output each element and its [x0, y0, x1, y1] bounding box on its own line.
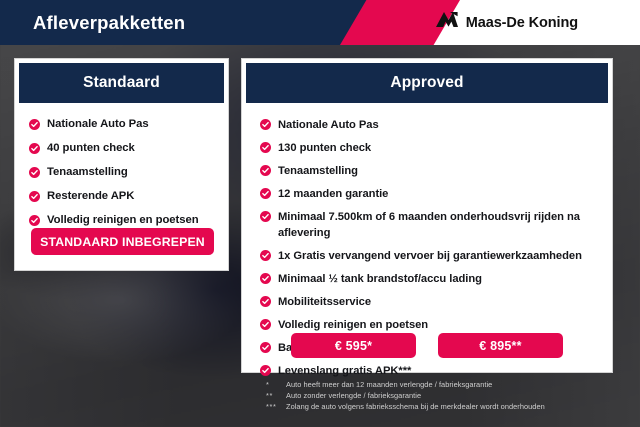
- footnote-text: Zolang de auto volgens fabrieksschema bi…: [286, 401, 545, 412]
- check-circle-icon: [260, 165, 271, 176]
- feature-label: Minimaal 7.500km of 6 maanden onderhouds…: [278, 209, 602, 241]
- list-item: Minimaal 7.500km of 6 maanden onderhouds…: [242, 209, 612, 241]
- feature-label: Nationale Auto Pas: [47, 117, 149, 132]
- feature-label: Mobiliteitsservice: [278, 294, 371, 310]
- package-card-standaard: Standaard Nationale Auto Pas 40 punten c…: [14, 58, 229, 271]
- check-circle-icon: [29, 191, 40, 202]
- feature-label: 1x Gratis vervangend vervoer bij garanti…: [278, 248, 582, 264]
- footnote-text: Auto heeft meer dan 12 maanden verlengde…: [286, 379, 492, 390]
- brand-name: Maas-De Koning: [466, 15, 578, 31]
- check-circle-icon: [260, 365, 271, 376]
- list-item: Tenaamstelling: [242, 163, 612, 179]
- list-item: Tenaamstelling: [15, 165, 228, 180]
- list-item: 130 punten check: [242, 140, 612, 156]
- brand-lockup: Maas-De Koning: [435, 0, 578, 45]
- list-item: 1x Gratis vervangend vervoer bij garanti…: [242, 248, 612, 264]
- list-item: Volledig reinigen en poetsen: [242, 317, 612, 333]
- price-button-row: € 595* € 895**: [242, 333, 612, 358]
- check-circle-icon: [260, 319, 271, 330]
- card-header-standaard: Standaard: [19, 63, 224, 103]
- check-circle-icon: [260, 250, 271, 261]
- check-circle-icon: [29, 215, 40, 226]
- feature-label: Levenslang gratis APK***: [278, 363, 411, 379]
- standaard-inbegrepen-button[interactable]: STANDAARD INBEGREPEN: [31, 228, 214, 255]
- feature-label: Tenaamstelling: [47, 165, 128, 180]
- feature-label: Minimaal ½ tank brandstof/accu lading: [278, 271, 482, 287]
- footnote-single-asterisk: * Auto heeft meer dan 12 maanden verleng…: [266, 379, 626, 390]
- list-item: Resterende APK: [15, 189, 228, 204]
- afleverpakketten-page: Afleverpakketten Maas-De Koning Standaar…: [0, 0, 640, 427]
- check-circle-icon: [260, 142, 271, 153]
- footnote-marker: ***: [266, 401, 286, 412]
- maas-de-koning-m-logo-icon: [435, 11, 459, 34]
- list-item: Nationale Auto Pas: [242, 117, 612, 133]
- footnote-triple-asterisk: *** Zolang de auto volgens fabrieksschem…: [266, 401, 626, 412]
- footnote-marker: **: [266, 390, 286, 401]
- feature-list-standaard: Nationale Auto Pas 40 punten check Tenaa…: [15, 103, 228, 228]
- page-header: Afleverpakketten Maas-De Koning: [0, 0, 640, 45]
- feature-label: Volledig reinigen en poetsen: [278, 317, 428, 333]
- package-card-approved: Approved Nationale Auto Pas 130 punten c…: [241, 58, 613, 373]
- check-circle-icon: [260, 119, 271, 130]
- check-circle-icon: [29, 143, 40, 154]
- feature-label: Resterende APK: [47, 189, 134, 204]
- list-item: Nationale Auto Pas: [15, 117, 228, 132]
- feature-label: Volledig reinigen en poetsen: [47, 213, 199, 228]
- feature-label: 12 maanden garantie: [278, 186, 388, 202]
- card-header-approved: Approved: [246, 63, 608, 103]
- feature-label: Nationale Auto Pas: [278, 117, 379, 133]
- check-circle-icon: [29, 167, 40, 178]
- footnote-marker: *: [266, 379, 286, 390]
- check-circle-icon: [260, 211, 271, 222]
- card-title-approved: Approved: [390, 74, 463, 92]
- price-button-895[interactable]: € 895**: [438, 333, 563, 358]
- feature-label: 130 punten check: [278, 140, 371, 156]
- list-item: 12 maanden garantie: [242, 186, 612, 202]
- list-item: Volledig reinigen en poetsen: [15, 213, 228, 228]
- footnotes: * Auto heeft meer dan 12 maanden verleng…: [266, 379, 626, 412]
- footnote-double-asterisk: ** Auto zonder verlengde / fabrieksgaran…: [266, 390, 626, 401]
- check-circle-icon: [260, 188, 271, 199]
- list-item: Mobiliteitsservice: [242, 294, 612, 310]
- check-circle-icon: [260, 273, 271, 284]
- check-circle-icon: [260, 296, 271, 307]
- page-title: Afleverpakketten: [33, 0, 185, 45]
- card-title-standaard: Standaard: [83, 74, 160, 92]
- feature-label: Tenaamstelling: [278, 163, 358, 179]
- list-item: Levenslang gratis APK***: [242, 363, 612, 379]
- footnote-text: Auto zonder verlengde / fabrieksgarantie: [286, 390, 421, 401]
- list-item: 40 punten check: [15, 141, 228, 156]
- feature-label: 40 punten check: [47, 141, 135, 156]
- price-button-595[interactable]: € 595*: [291, 333, 416, 358]
- list-item: Minimaal ½ tank brandstof/accu lading: [242, 271, 612, 287]
- check-circle-icon: [29, 119, 40, 130]
